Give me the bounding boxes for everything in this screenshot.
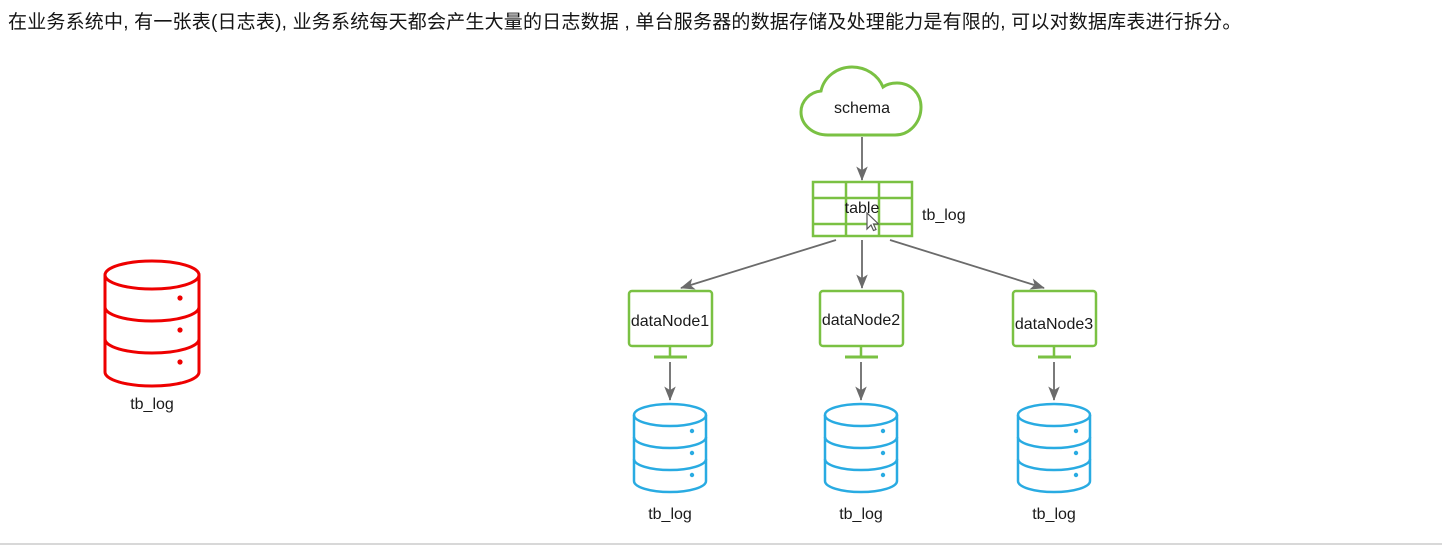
arrow-table-to-node3 xyxy=(890,240,1044,288)
architecture-diagram xyxy=(0,0,1442,545)
shard-database-icon-1 xyxy=(634,404,706,492)
source-database-label: tb_log xyxy=(102,396,202,414)
mouse-pointer-icon xyxy=(866,212,880,232)
intro-paragraph: 在业务系统中, 有一张表(日志表), 业务系统每天都会产生大量的日志数据 , 单… xyxy=(8,6,1436,39)
source-database-icon xyxy=(105,261,199,386)
datanode-1-label: dataNode1 xyxy=(620,313,720,331)
shard-database-icon-3 xyxy=(1018,404,1090,492)
shard-database-icon-2 xyxy=(825,404,897,492)
table-label: table xyxy=(812,200,912,218)
table-side-label: tb_log xyxy=(922,207,1012,225)
arrow-table-to-node1 xyxy=(681,240,836,288)
shard-db-1-label: tb_log xyxy=(620,506,720,524)
diagram-page: 在业务系统中, 有一张表(日志表), 业务系统每天都会产生大量的日志数据 , 单… xyxy=(0,0,1442,545)
datanode-2-label: dataNode2 xyxy=(811,312,911,330)
shard-db-3-label: tb_log xyxy=(1004,506,1104,524)
cloud-label: schema xyxy=(812,100,912,118)
datanode-3-label: dataNode3 xyxy=(1004,316,1104,334)
shard-db-2-label: tb_log xyxy=(811,506,911,524)
